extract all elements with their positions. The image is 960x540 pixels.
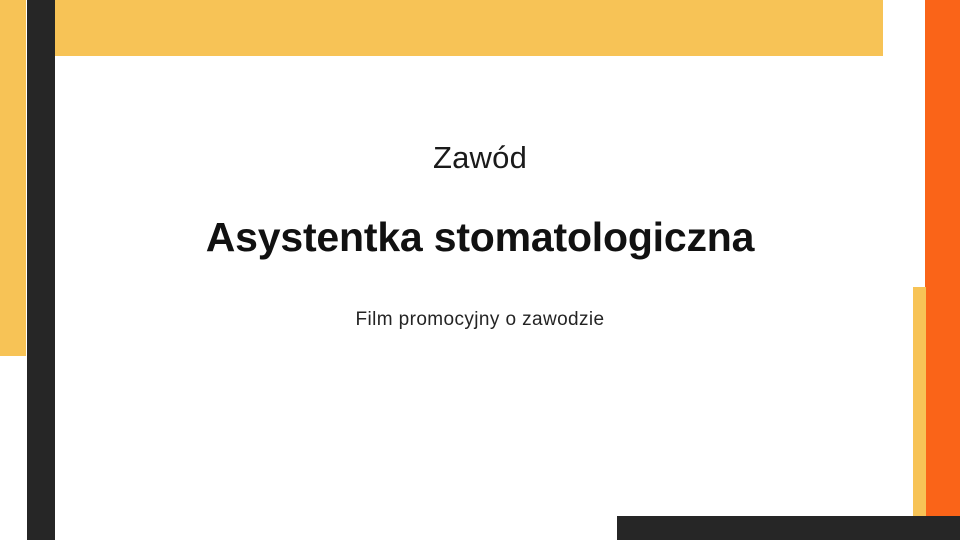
- title-text-block: Zawód Asystentka stomatologiczna Film pr…: [150, 140, 810, 332]
- left-dark-band: [27, 0, 55, 540]
- left-yellow-band: [0, 0, 26, 356]
- bottom-dark-bar: [617, 516, 960, 540]
- right-yellow-strip: [913, 287, 926, 516]
- slide-eyebrow: Zawód: [150, 140, 810, 176]
- top-yellow-banner: [55, 0, 883, 56]
- slide-headline: Asystentka stomatologiczna: [150, 214, 810, 261]
- slide-canvas: Zawód Asystentka stomatologiczna Film pr…: [0, 0, 960, 540]
- right-orange-band: [925, 0, 960, 540]
- slide-subtitle: Film promocyjny o zawodzie: [150, 309, 810, 332]
